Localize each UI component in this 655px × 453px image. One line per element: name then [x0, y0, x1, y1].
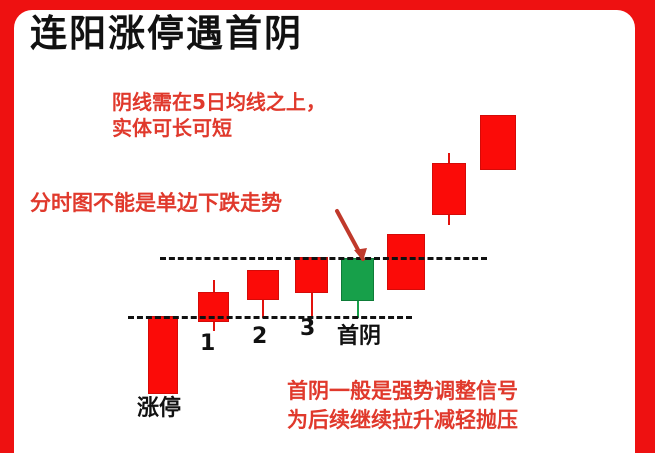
- candle-label-zhangting: 涨停: [137, 398, 181, 420]
- candle-3: [295, 257, 328, 318]
- candle-body: [387, 234, 425, 290]
- candlestick-chart: [0, 0, 655, 453]
- upper-dashed-line: [160, 257, 487, 260]
- candle-body: [295, 257, 328, 293]
- candle-label-2: 2: [252, 326, 267, 348]
- candle-8: [480, 115, 516, 170]
- infographic-root: 连阳涨停遇首阴 阴线需在5日均线之上， 实体可长可短 分时图不能是单边下跌走势 …: [0, 0, 655, 453]
- candle-label-3: 3: [300, 318, 315, 340]
- candle-6: [387, 234, 425, 290]
- candle-2: [247, 270, 279, 318]
- candle-body: [432, 163, 466, 215]
- candle-1: [198, 280, 229, 331]
- candle-7: [432, 153, 466, 225]
- candle-body: [148, 316, 178, 394]
- candle-label-shouyin: 首阴: [337, 326, 381, 348]
- candle-label-1: 1: [200, 333, 215, 355]
- candle-body: [480, 115, 516, 170]
- lower-dashed-line: [128, 316, 412, 319]
- candle-body: [341, 258, 374, 301]
- candle-涨停: [148, 316, 178, 394]
- candle-body: [247, 270, 279, 300]
- candle-首阴: [341, 258, 374, 318]
